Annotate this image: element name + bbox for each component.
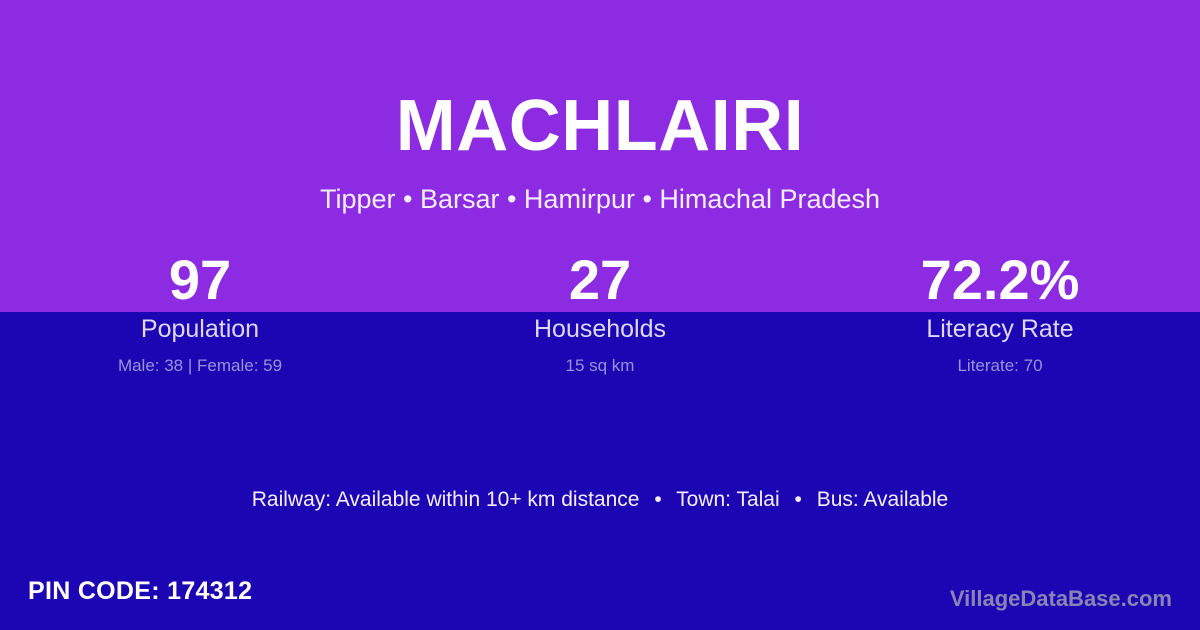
amenity-town: Town: Talai bbox=[676, 488, 780, 511]
pin-code: PIN CODE: 174312 bbox=[28, 575, 252, 607]
stat-literacy-rate-sub: Literate: 70 bbox=[800, 355, 1200, 377]
amenities-line: Railway: Available within 10+ km distanc… bbox=[0, 486, 1200, 514]
stat-population-sub: Male: 38 | Female: 59 bbox=[0, 355, 400, 377]
stat-literacy-rate: 72.2% Literacy Rate Literate: 70 bbox=[800, 248, 1200, 377]
stat-households-label: Households bbox=[400, 314, 800, 344]
stat-population-label: Population bbox=[0, 314, 400, 344]
amenity-separator-icon: • bbox=[786, 486, 811, 514]
location-breadcrumb: Tipper • Barsar • Hamirpur • Himachal Pr… bbox=[0, 182, 1200, 216]
stat-population: 97 Population Male: 38 | Female: 59 bbox=[0, 248, 400, 377]
stats-row: 97 Population Male: 38 | Female: 59 27 H… bbox=[0, 248, 1200, 377]
stat-literacy-rate-label: Literacy Rate bbox=[800, 314, 1200, 344]
stat-households-value: 27 bbox=[400, 248, 800, 312]
stat-literacy-rate-value: 72.2% bbox=[800, 248, 1200, 312]
site-branding: VillageDataBase.com bbox=[950, 585, 1172, 613]
amenity-bus: Bus: Available bbox=[817, 488, 949, 511]
stat-households-sub: 15 sq km bbox=[400, 355, 800, 377]
stat-households: 27 Households 15 sq km bbox=[400, 248, 800, 377]
stat-population-value: 97 bbox=[0, 248, 400, 312]
amenity-separator-icon: • bbox=[645, 486, 670, 514]
village-info-card: MACHLAIRI Tipper • Barsar • Hamirpur • H… bbox=[0, 0, 1200, 630]
village-name-title: MACHLAIRI bbox=[0, 88, 1200, 164]
amenity-railway: Railway: Available within 10+ km distanc… bbox=[252, 488, 640, 511]
